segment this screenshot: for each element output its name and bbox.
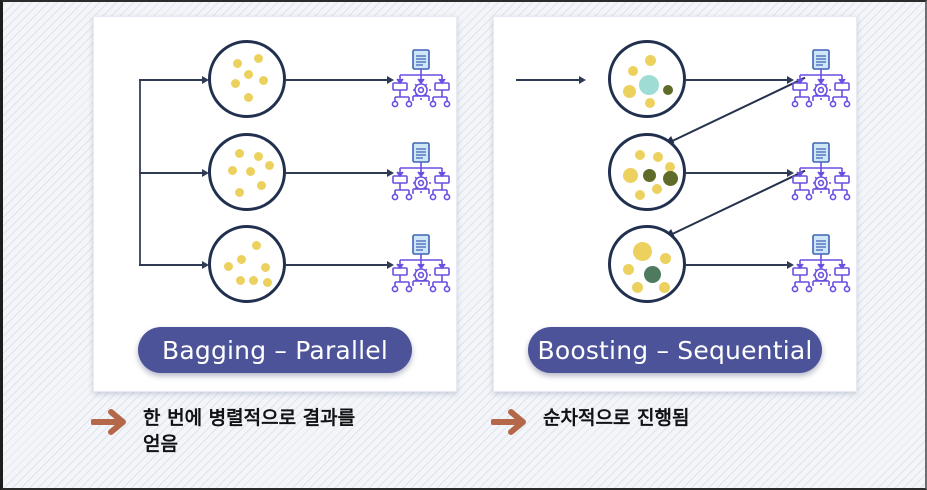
sample-dot [623,264,634,275]
sample-dot [659,282,670,293]
feedback-arrow-2 [666,170,806,238]
bagging-panel-card: Bagging – Parallel [93,16,457,392]
boosting-diagram: Boosting – Sequential [494,17,856,391]
sample-bag-circle [208,133,286,211]
sample-bag-circle [608,225,686,303]
sample-dot [246,167,255,176]
bagging-caption: 한 번에 병렬적으로 결과를 얻음 [91,406,451,457]
input-line [516,79,582,81]
sample-dot [228,166,237,175]
sample-bag-circle [608,40,686,118]
sample-dot [259,76,268,85]
bag-to-model-line-2 [286,172,390,174]
right-arrow-icon [491,408,531,441]
sample-dot [235,188,244,197]
sample-dot [261,263,270,272]
boosting-panel-card: Boosting – Sequential [493,16,857,392]
model-icon [790,233,852,295]
sample-dot [237,255,246,264]
sample-dot [252,241,261,250]
sample-bag-circle [208,40,286,118]
bag-to-model-line-1 [286,79,390,81]
sample-dot [645,98,655,108]
sample-dot [254,152,263,161]
model-icon [790,141,852,203]
sample-dot [254,54,263,63]
sample-dot [663,85,673,95]
bag-to-model-line-2 [686,172,790,174]
bag-to-model-line-1 [686,79,790,81]
sample-dot [235,149,244,158]
model-icon [390,48,452,110]
sample-dot [263,278,272,287]
sample-bag-circle [608,133,686,211]
sample-dot [249,276,258,285]
sample-dot [623,85,636,98]
sample-dot [663,171,678,186]
sample-dot [224,262,233,271]
bagging-caption-text: 한 번에 병렬적으로 결과를 얻음 [143,406,355,457]
sample-dot [644,266,661,283]
bag-to-model-line-3 [286,264,390,266]
sample-dot [645,55,656,66]
input-arrowhead [579,76,586,84]
bagging-diagram: Bagging – Parallel [94,17,456,391]
sample-dot [233,59,242,68]
boosting-caption-text: 순차적으로 진행됨 [543,406,689,432]
sample-dot [257,181,266,190]
feedback-arrow-1 [666,77,806,145]
bag-to-model-line-3 [686,264,790,266]
sample-dot [633,242,652,261]
sample-dot [632,282,643,293]
sample-dot [635,190,645,200]
slide-canvas: Bagging – Parallel [0,0,927,490]
right-arrow-icon [91,408,131,441]
sample-dot [643,169,656,182]
sample-dot [635,150,645,160]
model-icon [790,48,852,110]
sample-dot [231,79,240,88]
bracket-branch-3 [139,264,205,266]
sample-dot [236,276,245,285]
boosting-label-pill[interactable]: Boosting – Sequential [528,327,822,373]
sample-dot [652,184,662,194]
boosting-caption: 순차적으로 진행됨 [491,406,871,441]
bracket-branch-1 [139,79,205,81]
sample-dot [660,253,671,264]
sample-dot [628,66,638,76]
boosting-label-text: Boosting – Sequential [537,336,812,365]
sample-dot [244,93,253,102]
sample-dot [653,152,663,162]
sample-dot [244,70,253,79]
bracket-branch-2 [139,172,205,174]
model-icon [390,233,452,295]
sample-bag-circle [208,225,286,303]
sample-dot [639,75,659,95]
sample-dot [265,161,274,170]
sample-dot [623,168,638,183]
bagging-label-text: Bagging – Parallel [162,336,388,365]
model-icon [390,141,452,203]
bagging-label-pill[interactable]: Bagging – Parallel [138,327,412,373]
